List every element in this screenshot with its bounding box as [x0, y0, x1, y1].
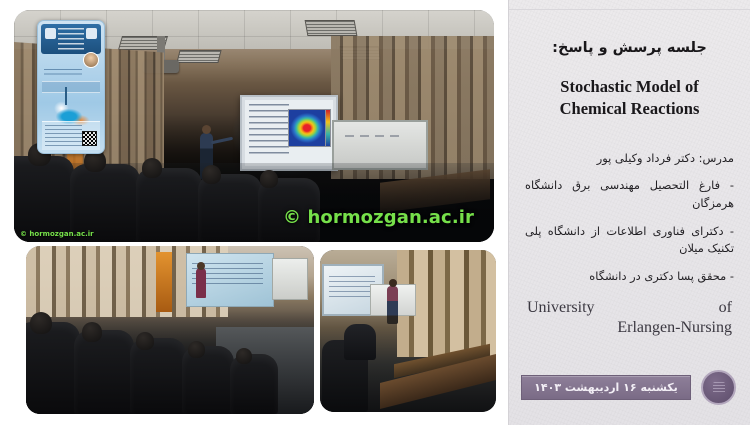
chair [198, 174, 262, 242]
chair [74, 330, 134, 414]
top-divider [509, 9, 750, 10]
poster-divider [42, 81, 100, 93]
affiliation: University of Erlangen-Nursing [525, 298, 734, 338]
speaker-bio-list: مدرس: دکتر فرداد وکیلی پور - فارغ التحصی… [525, 150, 734, 286]
chair [136, 168, 202, 242]
watermark-corner: © hormozgan.ac.ir [20, 230, 94, 238]
bio-item-postdoc: - محقق پسا دکتری در دانشگاه [525, 268, 734, 286]
photo-collage: © hormozgan.ac.ir [0, 0, 508, 425]
poster-header [41, 24, 101, 54]
announcement-flyer: © hormozgan.ac.ir [0, 0, 750, 425]
affiliation-line-2: Erlangen-Nursing [527, 318, 732, 338]
window-curtain [156, 252, 172, 312]
conference-poster [37, 20, 105, 154]
poster-title-lines [58, 28, 84, 50]
audience-head [188, 341, 205, 358]
audience-head [260, 170, 278, 188]
room-backdrop [320, 250, 496, 412]
ceiling-vent [176, 50, 221, 63]
audience-head [30, 312, 52, 334]
chair [230, 354, 278, 414]
talk-title: Stochastic Model of Chemical Reactions [525, 76, 734, 120]
bio-item-speaker-name: مدرس: دکتر فرداد وکیلی پور [525, 150, 734, 168]
poster-footer-lines [45, 125, 82, 147]
photo-audience [26, 246, 314, 414]
organization-seal-icon [701, 370, 736, 405]
room-backdrop [26, 246, 314, 414]
chair [344, 324, 376, 360]
info-panel: جلسه پرسش و پاسخ: Stochastic Model of Ch… [508, 0, 750, 425]
audience-head [202, 165, 221, 184]
poster-subtitle-lines [44, 69, 82, 78]
poster-speaker-avatar [83, 52, 99, 68]
talk-title-line-1: Stochastic Model of [525, 76, 734, 98]
chair [26, 322, 80, 414]
affiliation-line-1: University of [527, 299, 732, 316]
chair [130, 338, 186, 414]
audience-chairs [26, 333, 314, 414]
date-row: یکشنبه ۱۶ اردیبهشت ۱۴۰۳ [521, 370, 736, 405]
whiteboard [272, 258, 308, 300]
presenter-figure [387, 286, 398, 324]
watermark: © hormozgan.ac.ir [283, 207, 474, 228]
qr-code-icon [82, 131, 97, 146]
bio-item-degree-phd: - دکترای فناوری اطلاعات از دانشگاه پلی ت… [525, 223, 734, 258]
talk-title-line-2: Chemical Reactions [525, 98, 734, 120]
date-badge: یکشنبه ۱۶ اردیبهشت ۱۴۰۳ [521, 375, 691, 400]
ceiling-vent [305, 20, 358, 36]
photo-whiteboard [320, 250, 496, 412]
audience-head [82, 322, 102, 342]
presenter-figure [196, 268, 206, 298]
poster-logo-icon [45, 28, 56, 39]
audience-head [142, 158, 162, 178]
audience-head [236, 348, 252, 364]
audience-head [136, 332, 154, 350]
poster-footer [42, 121, 100, 150]
poster-logo-icon [86, 28, 97, 39]
bio-item-degree-bsc: - فارغ التحصیل مهندسی برق دانشگاه هرمزگا… [525, 177, 734, 212]
